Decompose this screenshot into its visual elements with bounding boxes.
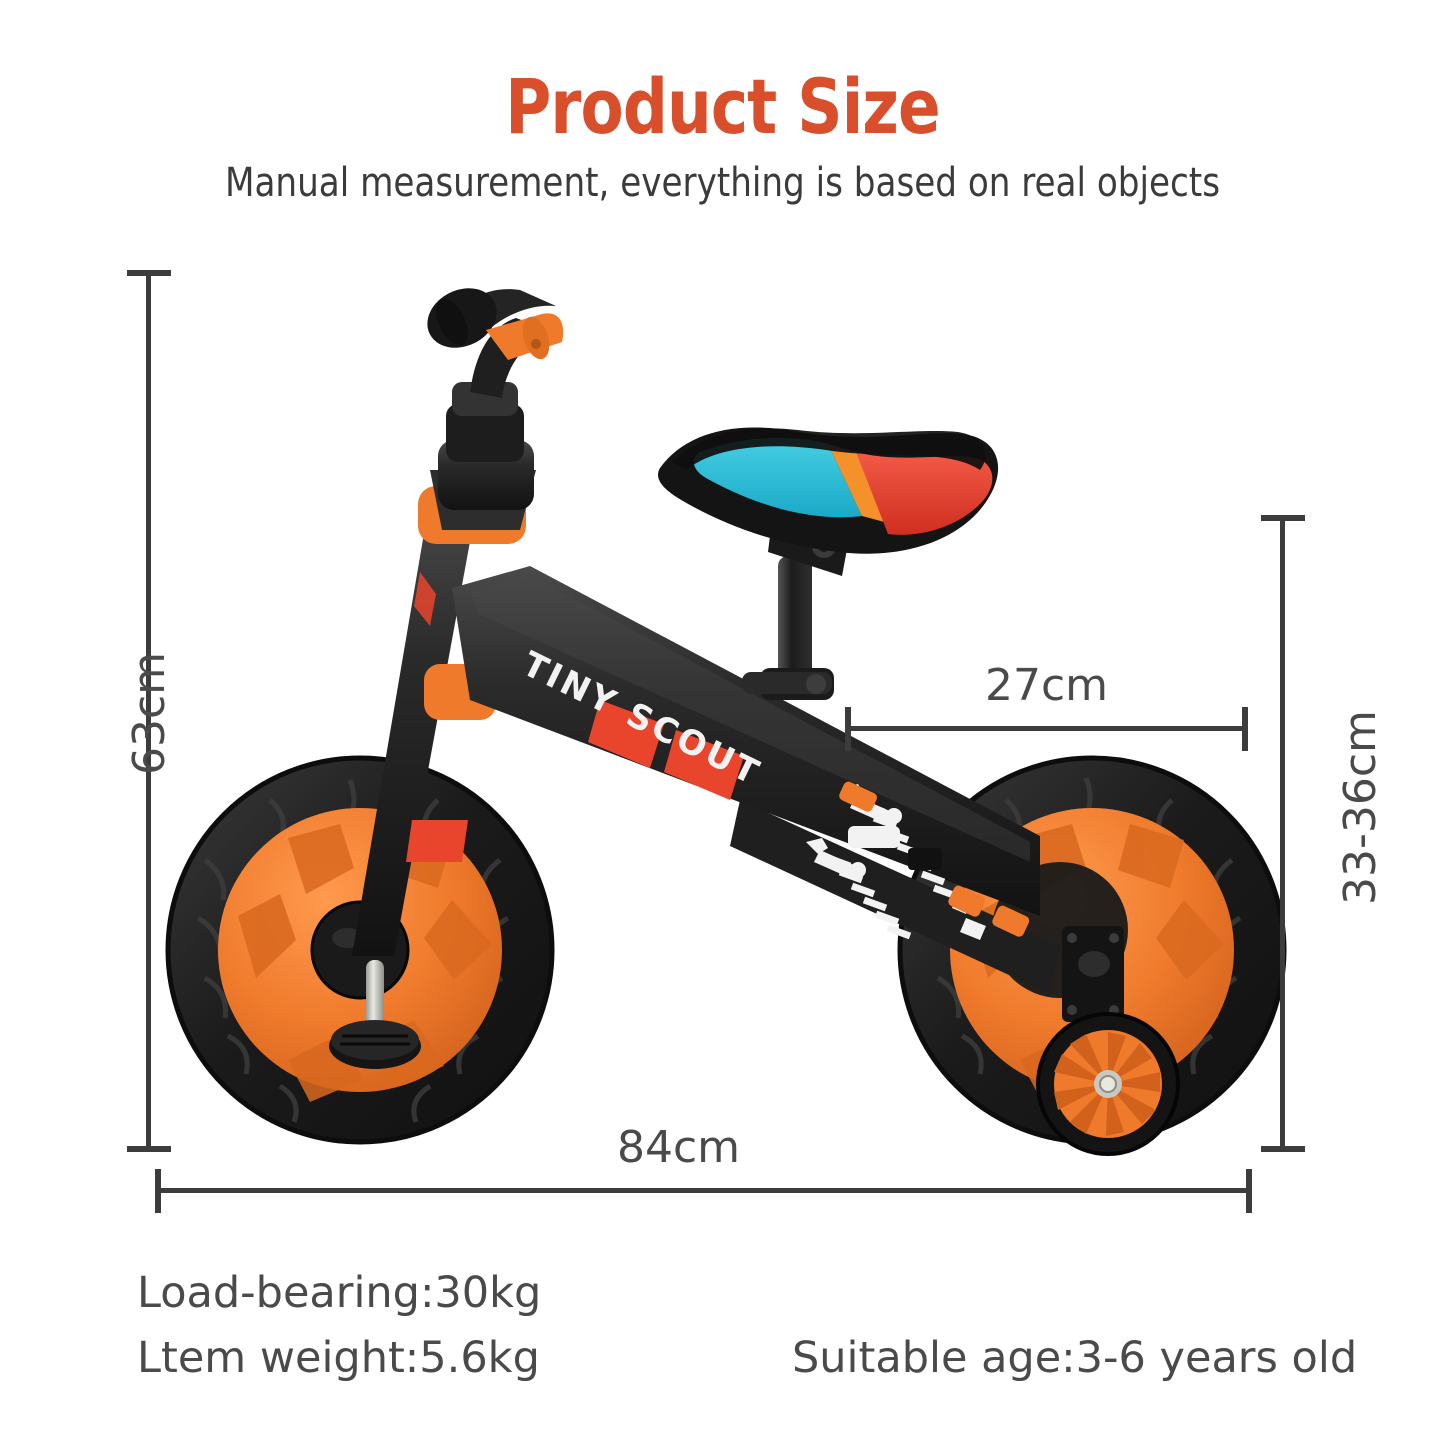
dimension-cap-top-33-36cm xyxy=(1261,515,1305,521)
rear-wheel xyxy=(900,758,1284,1142)
page-title: Product Size xyxy=(58,62,1387,151)
page-subtitle: Manual measurement, everything is based … xyxy=(36,160,1409,206)
dimension-label-84cm: 84cm xyxy=(617,1122,740,1173)
dimension-cap-right-27cm xyxy=(1242,707,1248,751)
dimension-cap-top-63cm xyxy=(127,270,171,276)
dimension-label-63cm: 63cm xyxy=(124,652,175,775)
handlebar xyxy=(417,277,563,363)
saddle xyxy=(658,428,998,554)
dimension-cap-left-27cm xyxy=(845,707,851,751)
seat-post xyxy=(742,520,848,700)
dimension-line-33-36cm xyxy=(1280,517,1285,1152)
head-tube xyxy=(430,318,548,530)
dimension-label-33-36cm: 33-36cm xyxy=(1335,710,1386,905)
dimension-cap-right-84cm xyxy=(1246,1169,1252,1213)
product-size-infographic: Product Size Manual measurement, everyth… xyxy=(0,0,1445,1445)
dimension-line-27cm xyxy=(846,726,1248,731)
dimension-cap-bottom-33-36cm xyxy=(1261,1146,1305,1152)
brand-text: TINY SCOUT xyxy=(516,644,767,794)
spec-load-bearing: Load-bearing:30kg xyxy=(137,1268,541,1318)
dimension-cap-left-84cm xyxy=(155,1169,161,1213)
dimension-label-27cm: 27cm xyxy=(985,660,1108,711)
training-wheel xyxy=(1038,1014,1178,1154)
dimension-line-84cm xyxy=(156,1188,1252,1193)
dimension-cap-bottom-63cm xyxy=(127,1146,171,1152)
frame-beam: TINY SCOUT xyxy=(414,566,1040,916)
front-fork xyxy=(352,486,526,956)
spec-item-weight: Ltem weight:5.6kg xyxy=(137,1333,540,1383)
bike-illustration: TINY SCOUT xyxy=(0,0,1445,1445)
chainstay xyxy=(730,780,1060,994)
front-wheel xyxy=(168,758,552,1142)
spec-suitable-age: Suitable age:3-6 years old xyxy=(792,1333,1357,1383)
